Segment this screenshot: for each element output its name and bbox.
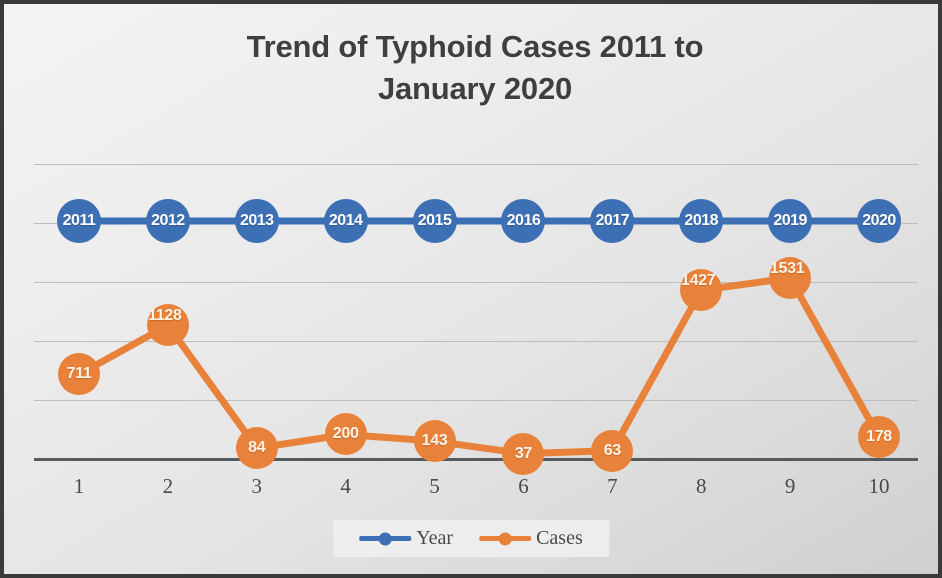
x-axis-tick: 8: [696, 474, 707, 499]
data-point-cases[interactable]: 1531: [769, 257, 811, 299]
data-label-cases: 63: [604, 442, 621, 460]
data-label-cases: 178: [866, 428, 892, 446]
data-point-year[interactable]: 2012: [146, 199, 190, 243]
data-point-cases[interactable]: 178: [858, 416, 900, 458]
chart-legend: Year Cases: [333, 520, 609, 557]
data-label-year: 2015: [418, 212, 452, 230]
data-point-year[interactable]: 2013: [235, 199, 279, 243]
legend-item-year[interactable]: Year: [359, 527, 453, 550]
x-axis-tick: 10: [869, 474, 890, 499]
x-axis-tick: 7: [607, 474, 618, 499]
data-point-cases[interactable]: 84: [236, 427, 278, 469]
data-label-cases: 37: [515, 445, 532, 463]
data-label-cases: 1531: [770, 260, 804, 278]
data-point-year[interactable]: 2016: [501, 199, 545, 243]
data-point-cases[interactable]: 200: [325, 413, 367, 455]
data-label-year: 2016: [507, 212, 541, 230]
data-point-cases[interactable]: 711: [58, 353, 100, 395]
data-label-cases: 1128: [148, 307, 182, 325]
x-axis-tick: 2: [163, 474, 174, 499]
x-axis-tick: 3: [252, 474, 263, 499]
data-point-cases[interactable]: 37: [502, 433, 544, 475]
legend-label-cases: Cases: [536, 527, 583, 550]
data-point-year[interactable]: 2015: [413, 199, 457, 243]
line-cases: [79, 278, 879, 454]
data-point-year[interactable]: 2018: [679, 199, 723, 243]
legend-marker-year-icon: [359, 536, 411, 541]
data-label-year: 2017: [596, 212, 630, 230]
legend-label-year: Year: [416, 527, 453, 550]
data-point-cases[interactable]: 63: [591, 430, 633, 472]
x-axis-tick: 5: [429, 474, 440, 499]
plot-area: 2011201220132014201520162017201820192020…: [34, 154, 918, 466]
data-label-cases: 143: [422, 432, 448, 450]
legend-marker-cases-icon: [479, 536, 531, 541]
data-point-cases[interactable]: 1427: [680, 269, 722, 311]
data-label-cases: 84: [248, 439, 265, 457]
x-axis-tick: 9: [785, 474, 796, 499]
chart-title: Trend of Typhoid Cases 2011 to January 2…: [4, 26, 942, 110]
data-label-cases: 200: [333, 425, 359, 443]
data-point-year[interactable]: 2011: [57, 199, 101, 243]
chart-screenshot: Trend of Typhoid Cases 2011 to January 2…: [0, 0, 942, 578]
data-label-year: 2019: [773, 212, 807, 230]
data-point-year[interactable]: 2019: [768, 199, 812, 243]
x-axis-tick-labels: 12345678910: [34, 474, 918, 504]
data-label-year: 2012: [151, 212, 185, 230]
x-axis-tick: 6: [518, 474, 529, 499]
x-axis-tick: 1: [74, 474, 85, 499]
data-point-cases[interactable]: 143: [414, 420, 456, 462]
data-label-year: 2011: [63, 212, 96, 230]
data-point-year[interactable]: 2017: [590, 199, 634, 243]
data-label-year: 2020: [862, 212, 896, 230]
data-label-year: 2014: [329, 212, 363, 230]
data-label-cases: 711: [67, 365, 92, 383]
data-point-year[interactable]: 2014: [324, 199, 368, 243]
legend-item-cases[interactable]: Cases: [479, 527, 583, 550]
data-label-year: 2018: [684, 212, 718, 230]
x-axis-tick: 4: [340, 474, 351, 499]
data-label-cases: 1427: [681, 272, 715, 290]
data-label-year: 2013: [240, 212, 274, 230]
data-point-cases[interactable]: 1128: [147, 304, 189, 346]
data-point-year[interactable]: 2020: [857, 199, 901, 243]
